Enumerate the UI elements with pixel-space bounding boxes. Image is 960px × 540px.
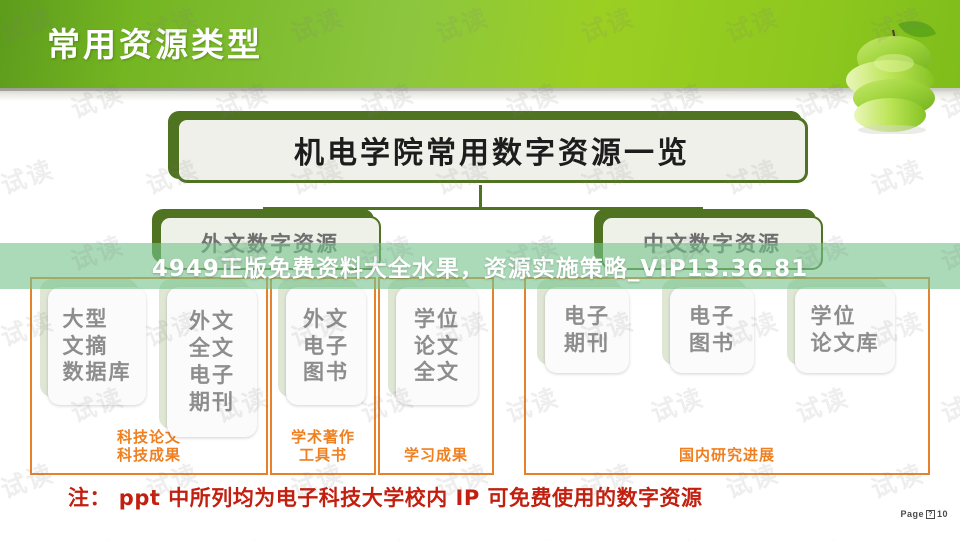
leaf-card-text: 电子 期刊: [564, 303, 610, 357]
diagram-title-text: 机电学院常用数字资源一览: [294, 128, 690, 172]
diagram-title-box: 机电学院常用数字资源一览: [168, 111, 802, 179]
resource-hierarchy-diagram: 机电学院常用数字资源一览 外文数字资源 中文数字资源 科技论文 科技成果 大型 …: [0, 101, 960, 540]
leaf-card-front: 电子 图书: [670, 287, 754, 373]
leaf-card-text: 大型 文摘 数据库: [63, 306, 132, 387]
connector-trunk: [479, 185, 482, 209]
group-label-domestic-research: 国内研究进展: [526, 446, 928, 465]
promo-overlay-banner: 4949正版免费资料大全水果，资源实施策略_VIP13.36.81: [0, 243, 960, 289]
title-box-front: 机电学院常用数字资源一览: [176, 117, 808, 183]
page-number-glyph-box: ?: [926, 510, 935, 519]
leaf-card-front: 学位 论文库: [795, 287, 895, 373]
leaf-card-text: 电子 图书: [689, 303, 735, 357]
leaf-card-front: 大型 文摘 数据库: [48, 287, 146, 405]
page-title: 常用资源类型: [47, 18, 263, 66]
leaf-card-foreign-ebooks: 外文 电子 图书: [286, 287, 366, 405]
leaf-card-cn-thesis-db: 学位 论文库: [795, 287, 895, 373]
leaf-card-text: 学位 论文 全文: [414, 306, 460, 387]
leaf-card-front: 电子 期刊: [545, 287, 629, 373]
group-label-learning-results: 学习成果: [380, 446, 492, 465]
leaf-card-foreign-journals: 外文 全文 电子 期刊: [167, 287, 257, 437]
leaf-card-text: 外文 全文 电子 期刊: [189, 308, 235, 416]
leaf-card-text: 学位 论文库: [811, 303, 880, 357]
header-divider-shadow: [0, 88, 960, 101]
leaf-card-thesis-fulltext: 学位 论文 全文: [396, 287, 478, 405]
group-label-academic-books: 学术著作 工具书: [272, 428, 374, 466]
leaf-card-front: 外文 电子 图书: [286, 287, 366, 405]
promo-overlay-text: 4949正版免费资料大全水果，资源实施策略_VIP13.36.81: [152, 249, 808, 283]
slide-header-band: 常用资源类型: [0, 0, 960, 88]
leaf-card-cn-ebooks: 电子 图书: [670, 287, 754, 373]
page-number-value: 10: [937, 509, 948, 519]
leaf-card-front: 外文 全文 电子 期刊: [167, 287, 257, 437]
leaf-card-text: 外文 电子 图书: [303, 306, 349, 387]
leaf-card-abstract-db: 大型 文摘 数据库: [48, 287, 146, 405]
leaf-card-cn-ejournals: 电子 期刊: [545, 287, 629, 373]
footer-note: 注： ppt 中所列均为电子科技大学校内 IP 可免费使用的数字资源: [68, 482, 703, 512]
page-number: Page?10: [900, 509, 948, 519]
page-number-prefix: Page: [900, 509, 924, 519]
leaf-card-front: 学位 论文 全文: [396, 287, 478, 405]
